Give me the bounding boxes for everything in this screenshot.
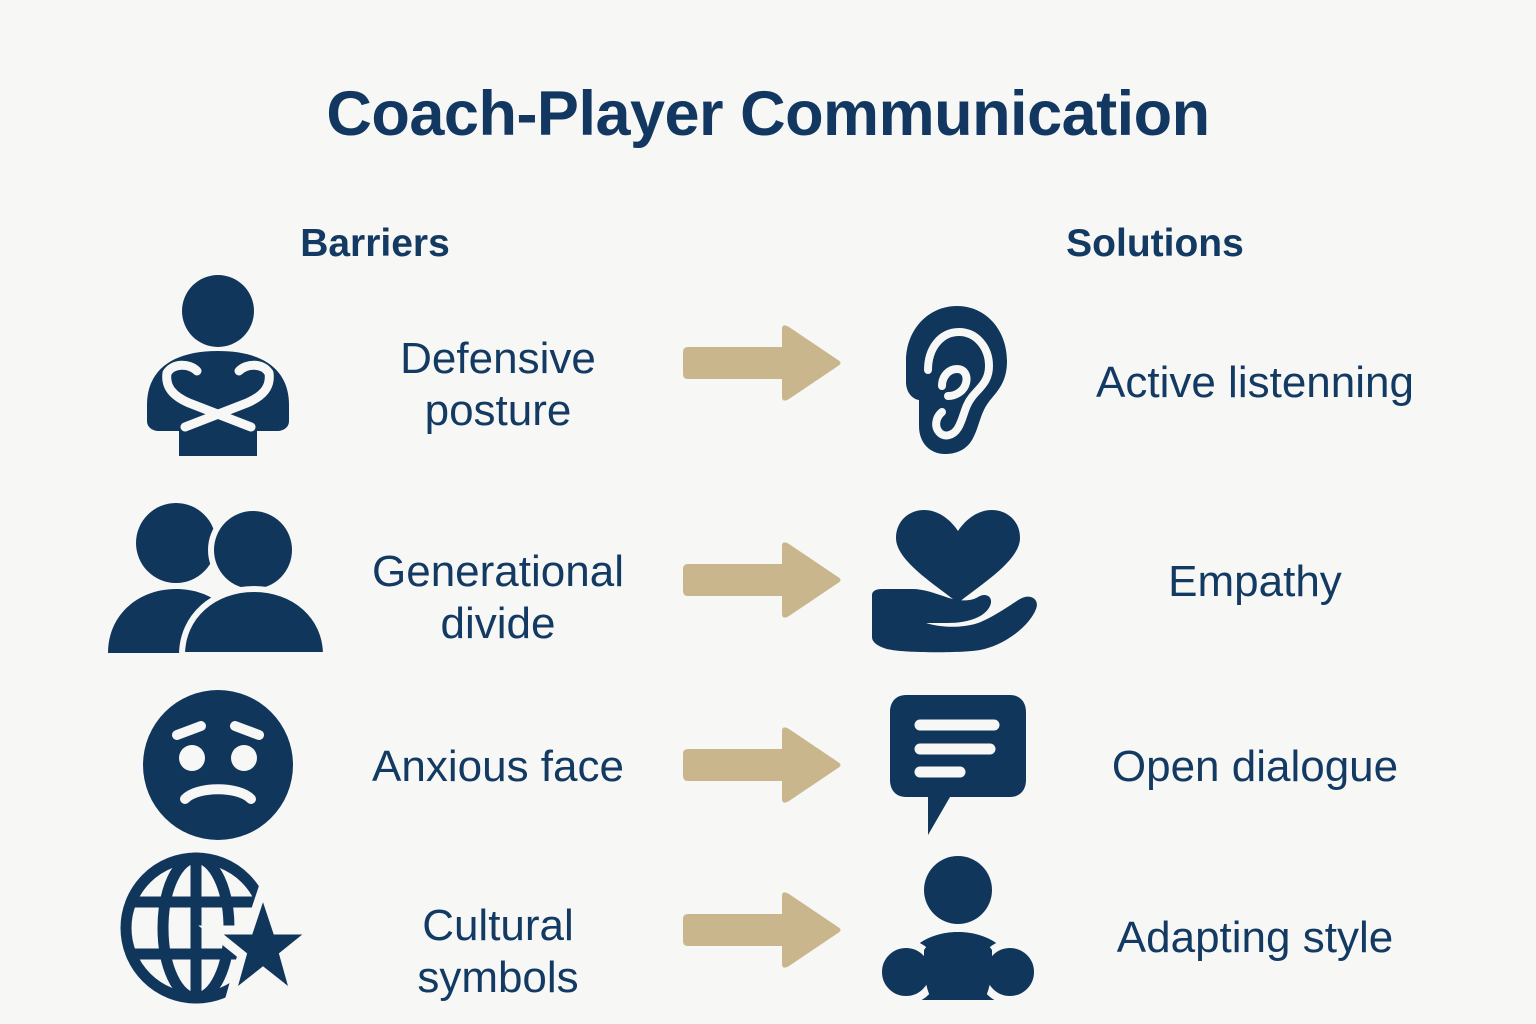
barrier-label-line: divide [372, 598, 624, 650]
right-arrow-icon [660, 495, 860, 665]
solution-label: Adapting style [1055, 853, 1455, 1023]
barrier-label-line: Generational [372, 546, 624, 598]
person-group-icon [860, 845, 1055, 1015]
right-arrow-icon [660, 278, 860, 448]
barrier-label-line: symbols [417, 952, 578, 1004]
mapping-row: Anxious face Open dialogue [0, 680, 1536, 850]
column-header-solutions: Solutions [995, 222, 1315, 266]
mapping-row: Generationaldivide Empathy [0, 495, 1536, 665]
barrier-label-line: Defensive [400, 333, 596, 385]
page-title: Coach-Player Communication [0, 78, 1536, 150]
barrier-label: Culturalsymbols [348, 867, 648, 1024]
heart-in-hand-icon [860, 495, 1055, 665]
right-arrow-icon [660, 845, 860, 1015]
column-header-barriers: Barriers [215, 222, 535, 266]
barrier-label: Defensiveposture [348, 300, 648, 470]
two-people-icon [88, 495, 348, 665]
speech-bubble-icon [860, 680, 1055, 850]
crossed-arms-person-icon [88, 282, 348, 452]
barrier-label: Generationaldivide [348, 513, 648, 683]
infographic-canvas: Coach-Player Communication Barriers Solu… [0, 0, 1536, 1024]
barrier-label-line: Cultural [417, 900, 578, 952]
solution-label: Active listenning [1055, 298, 1455, 468]
barrier-label-line: Anxious face [372, 741, 624, 793]
ear-icon [860, 294, 1055, 464]
barrier-label: Anxious face [348, 682, 648, 852]
mapping-row: Culturalsymbols Adapting style [0, 845, 1536, 1015]
barrier-label-line: posture [400, 385, 596, 437]
solution-label: Empathy [1055, 497, 1455, 667]
solution-label: Open dialogue [1055, 682, 1455, 852]
mapping-row: Defensiveposture Active listenning [0, 278, 1536, 448]
right-arrow-icon [660, 680, 860, 850]
globe-star-icon [88, 845, 348, 1015]
anxious-face-icon [88, 680, 348, 850]
